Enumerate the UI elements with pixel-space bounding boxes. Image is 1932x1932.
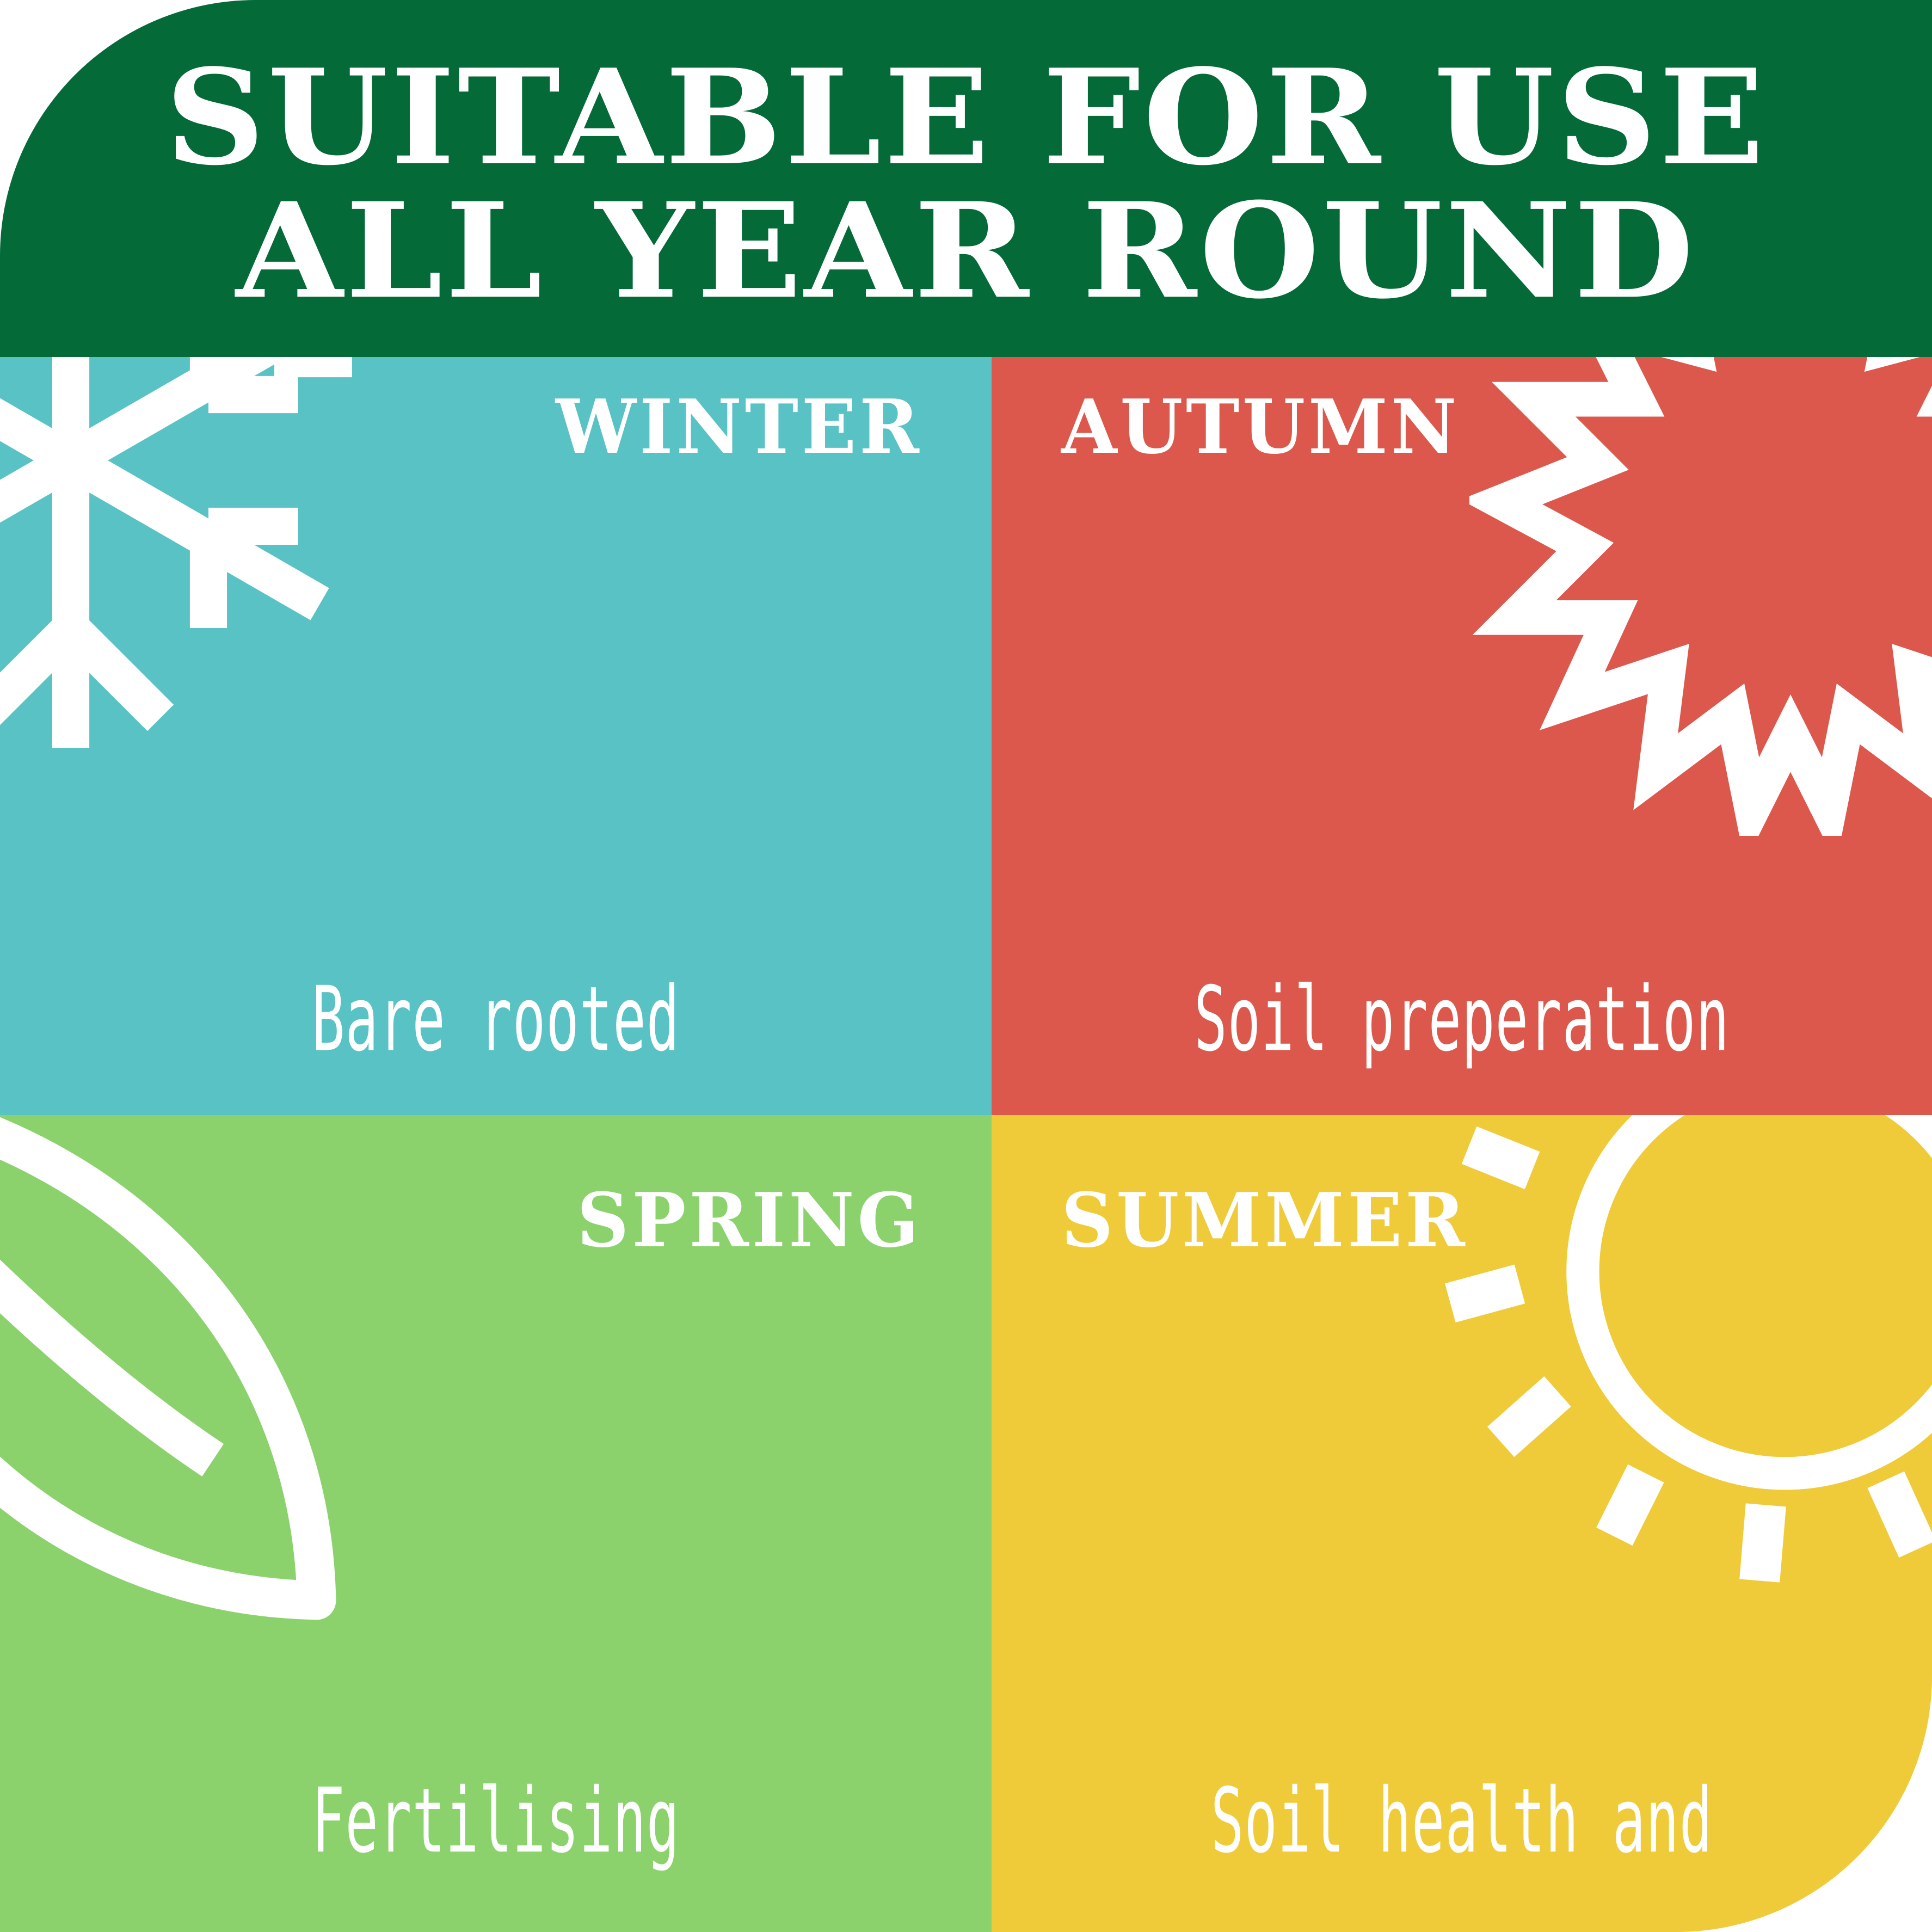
season-description-line1: Bare rooted — [99, 968, 893, 1072]
season-panel-winter[interactable]: WINTER Bare rooted planting — [0, 357, 992, 1115]
season-description-winter: Bare rooted planting — [99, 863, 893, 1115]
season-label-autumn: AUTUMN — [1061, 390, 1460, 464]
season-description-line1: Soil preperation — [1086, 968, 1838, 1072]
infographic-canvas: SUITABLE FOR USE ALL YEAR ROUND — [0, 0, 1932, 1932]
season-description-spring: Fertilising and growing — [99, 1665, 893, 1932]
page-title: SUITABLE FOR USE ALL YEAR ROUND — [165, 39, 1767, 317]
season-panel-autumn[interactable]: AUTUMN Soil preperation and planting — [992, 357, 1932, 1115]
season-label-winter: WINTER — [555, 390, 922, 464]
season-description-summer: Soil health and moisture retention — [1086, 1665, 1838, 1932]
season-label-summer: SUMMER — [1061, 1183, 1468, 1258]
sun-icon — [1431, 1115, 1932, 1638]
season-panel-summer[interactable]: SUMMER Soil health and moisture retentio… — [992, 1115, 1932, 1932]
leaf-icon — [0, 1115, 359, 1643]
season-label-spring: SPRING — [577, 1183, 922, 1258]
season-description-line1: Fertilising — [99, 1769, 893, 1874]
season-panel-spring[interactable]: SPRING Fertilising and growing — [0, 1115, 992, 1932]
header-banner: SUITABLE FOR USE ALL YEAR ROUND — [0, 0, 1932, 357]
season-grid: WINTER Bare rooted planting AUTUMN Soil … — [0, 357, 1932, 1932]
maple-leaf-icon — [1469, 357, 1932, 836]
season-description-autumn: Soil preperation and planting — [1086, 863, 1838, 1115]
snowflake-icon — [0, 357, 370, 760]
season-description-line1: Soil health and — [1086, 1769, 1838, 1874]
